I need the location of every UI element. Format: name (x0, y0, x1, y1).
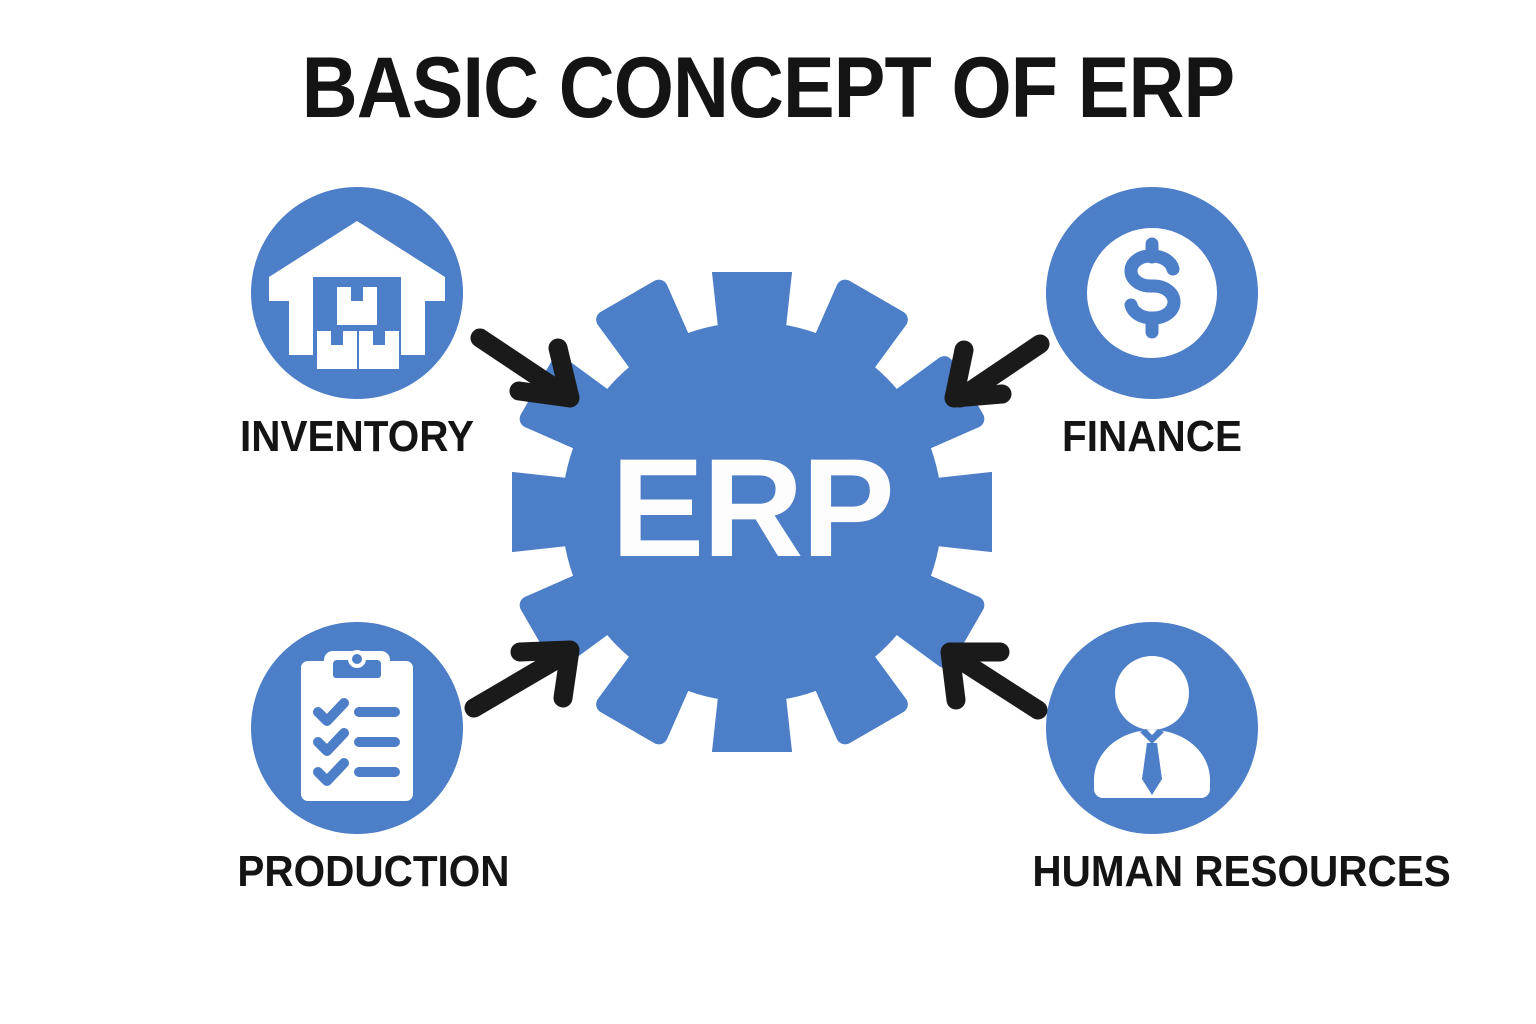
node-human-resources[interactable]: HUMAN RESOURCES (1022, 620, 1282, 898)
node-production[interactable]: PRODUCTION (227, 620, 487, 898)
arrow-finance-to-erp (938, 328, 1058, 418)
erp-concept-diagram: BASIC CONCEPT OF ERP INVENTORY (0, 0, 1536, 1024)
node-finance[interactable]: FINANCE (1022, 185, 1282, 463)
finance-label: FINANCE (1032, 411, 1271, 463)
arrow-inventory-to-erp (462, 318, 592, 418)
page-title: BASIC CONCEPT OF ERP (77, 40, 1459, 136)
node-inventory[interactable]: INVENTORY (227, 185, 487, 463)
person-tie-icon (1044, 620, 1260, 836)
human-resources-label: HUMAN RESOURCES (1032, 846, 1271, 898)
arrow-hr-to-erp (934, 638, 1054, 728)
arrow-production-to-erp (458, 636, 593, 726)
warehouse-icon (249, 185, 465, 401)
inventory-label: INVENTORY (237, 411, 476, 463)
inventory-icon-circle[interactable] (249, 185, 465, 401)
finance-icon-circle[interactable] (1044, 185, 1260, 401)
production-label: PRODUCTION (237, 846, 476, 898)
dollar-coin-icon (1044, 185, 1260, 401)
clipboard-checklist-icon (249, 620, 465, 836)
production-icon-circle[interactable] (249, 620, 465, 836)
hr-icon-circle[interactable] (1044, 620, 1260, 836)
